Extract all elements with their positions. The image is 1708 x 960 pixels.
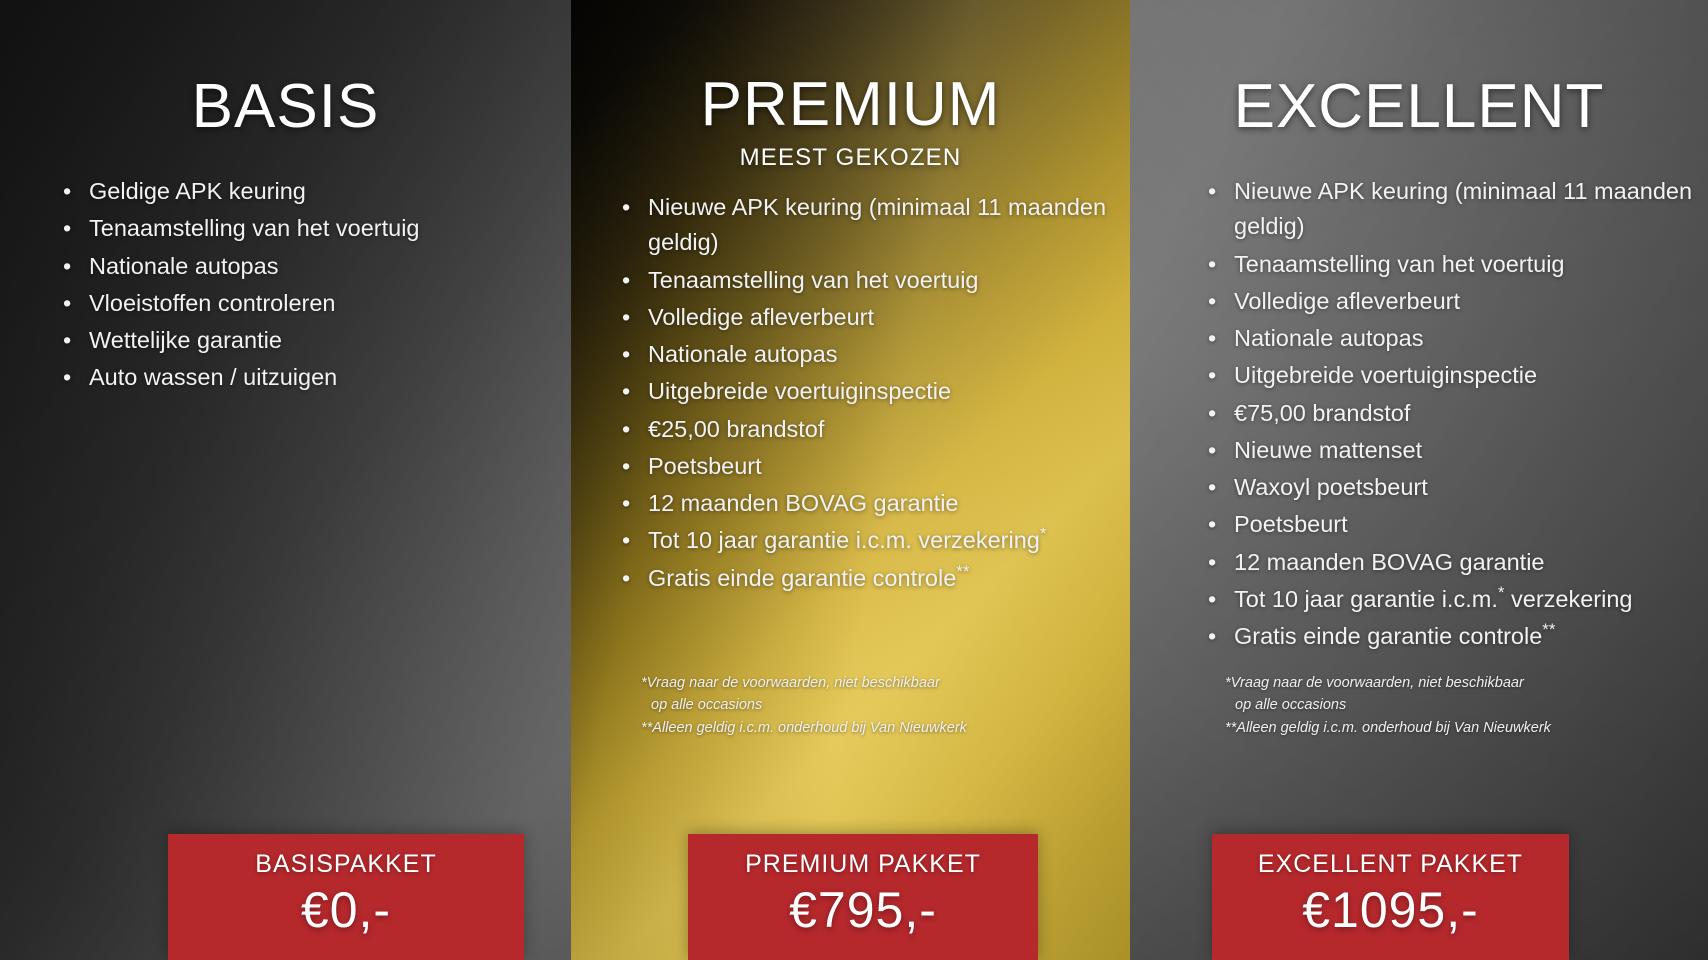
bullet-icon: • bbox=[1208, 247, 1216, 282]
list-item: • €75,00 brandstof bbox=[1205, 396, 1700, 431]
bullet-icon: • bbox=[622, 523, 630, 558]
list-item: • Uitgebreide voertuiginspectie bbox=[619, 374, 1119, 409]
feature-label: Poetsbeurt bbox=[1234, 511, 1348, 537]
feature-label: Tenaamstelling van het voertuig bbox=[1234, 251, 1565, 277]
banner-price: €0,- bbox=[168, 879, 524, 937]
feature-label: Waxoyl poetsbeurt bbox=[1234, 474, 1428, 500]
footnote-line: *Vraag naar de voorwaarden, niet beschik… bbox=[641, 672, 1111, 694]
bullet-icon: • bbox=[1208, 619, 1216, 654]
banner-price: €1095,- bbox=[1212, 879, 1569, 937]
feature-label: €25,00 brandstof bbox=[648, 416, 824, 442]
feature-label: Nieuwe APK keuring (minimaal 11 maanden … bbox=[648, 194, 1106, 255]
feature-label: 12 maanden BOVAG garantie bbox=[1234, 549, 1544, 575]
list-item: • Vloeistoffen controleren bbox=[60, 286, 560, 321]
bullet-icon: • bbox=[1208, 396, 1216, 431]
bullet-icon: • bbox=[1208, 582, 1216, 617]
bullet-icon: • bbox=[1208, 507, 1216, 542]
feature-label: Uitgebreide voertuiginspectie bbox=[648, 378, 951, 404]
list-item: • Nationale autopas bbox=[1205, 321, 1700, 356]
footnotes-premium: *Vraag naar de voorwaarden, niet beschik… bbox=[641, 672, 1111, 739]
feature-label: Tot 10 jaar garantie i.c.m.* verzekering bbox=[1234, 586, 1632, 612]
list-item: • Uitgebreide voertuiginspectie bbox=[1205, 358, 1700, 393]
bullet-icon: • bbox=[63, 174, 71, 209]
bullet-icon: • bbox=[1208, 174, 1216, 209]
bullet-icon: • bbox=[1208, 470, 1216, 505]
list-item: • Tenaamstelling van het voertuig bbox=[1205, 247, 1700, 282]
plan-title-excellent: EXCELLENT bbox=[1130, 76, 1708, 138]
feature-label: Wettelijke garantie bbox=[89, 327, 282, 353]
footnote-line: *Vraag naar de voorwaarden, niet beschik… bbox=[1225, 672, 1695, 694]
bullet-icon: • bbox=[1208, 433, 1216, 468]
list-item: • Nieuwe mattenset bbox=[1205, 433, 1700, 468]
price-banner-basis[interactable]: BASISPAKKET €0,- bbox=[168, 834, 524, 960]
list-item: • Waxoyl poetsbeurt bbox=[1205, 470, 1700, 505]
plan-subtitle-premium: MEEST GEKOZEN bbox=[571, 144, 1130, 172]
bullet-icon: • bbox=[622, 561, 630, 596]
bullet-icon: • bbox=[1208, 321, 1216, 356]
feature-label: Uitgebreide voertuiginspectie bbox=[1234, 362, 1537, 388]
feature-label: Volledige afleverbeurt bbox=[648, 304, 874, 330]
bullet-icon: • bbox=[63, 211, 71, 246]
footnote-line: op alle occasions bbox=[641, 694, 1111, 716]
feature-label: Nationale autopas bbox=[648, 341, 837, 367]
list-item: • Nationale autopas bbox=[60, 249, 560, 284]
feature-list-excellent: • Nieuwe APK keuring (minimaal 11 maande… bbox=[1205, 174, 1700, 656]
feature-label: Auto wassen / uitzuigen bbox=[89, 364, 337, 390]
list-item: • Tenaamstelling van het voertuig bbox=[619, 263, 1119, 298]
banner-label: BASISPAKKET bbox=[168, 834, 524, 879]
price-banner-premium[interactable]: PREMIUM PAKKET €795,- bbox=[688, 834, 1038, 960]
feature-label: Tenaamstelling van het voertuig bbox=[89, 215, 420, 241]
bullet-icon: • bbox=[622, 190, 630, 225]
feature-label: Tenaamstelling van het voertuig bbox=[648, 267, 979, 293]
pricing-comparison-slide: BASIS • Geldige APK keuring • Tenaamstel… bbox=[0, 0, 1708, 960]
footnote-line: **Alleen geldig i.c.m. onderhoud bij Van… bbox=[641, 717, 1111, 739]
feature-label: Geldige APK keuring bbox=[89, 178, 306, 204]
footnote-line: **Alleen geldig i.c.m. onderhoud bij Van… bbox=[1225, 717, 1695, 739]
list-item: • Poetsbeurt bbox=[1205, 507, 1700, 542]
plan-title-basis: BASIS bbox=[0, 76, 571, 138]
feature-label: Gratis einde garantie controle** bbox=[1234, 623, 1556, 649]
list-item: • Gratis einde garantie controle** bbox=[619, 561, 1119, 596]
bullet-icon: • bbox=[622, 449, 630, 484]
list-item: • Volledige afleverbeurt bbox=[619, 300, 1119, 335]
list-item: • Geldige APK keuring bbox=[60, 174, 560, 209]
feature-label: Nationale autopas bbox=[89, 253, 278, 279]
footnote-line: op alle occasions bbox=[1225, 694, 1695, 716]
list-item: • Tot 10 jaar garantie i.c.m. verzekerin… bbox=[619, 523, 1119, 558]
list-item: • Gratis einde garantie controle** bbox=[1205, 619, 1700, 654]
price-banner-excellent[interactable]: EXCELLENT PAKKET €1095,- bbox=[1212, 834, 1569, 960]
bullet-icon: • bbox=[63, 249, 71, 284]
feature-label: Nationale autopas bbox=[1234, 325, 1423, 351]
feature-label: Nieuwe APK keuring (minimaal 11 maanden … bbox=[1234, 178, 1692, 239]
footnotes-excellent: *Vraag naar de voorwaarden, niet beschik… bbox=[1225, 672, 1695, 739]
list-item: • Auto wassen / uitzuigen bbox=[60, 360, 560, 395]
list-item: • Tenaamstelling van het voertuig bbox=[60, 211, 560, 246]
bullet-icon: • bbox=[1208, 545, 1216, 580]
bullet-icon: • bbox=[63, 286, 71, 321]
feature-label: 12 maanden BOVAG garantie bbox=[648, 490, 958, 516]
feature-label: €75,00 brandstof bbox=[1234, 400, 1410, 426]
list-item: • Nationale autopas bbox=[619, 337, 1119, 372]
feature-label: Gratis einde garantie controle** bbox=[648, 565, 970, 591]
list-item: • Tot 10 jaar garantie i.c.m.* verzekeri… bbox=[1205, 582, 1700, 617]
banner-price: €795,- bbox=[688, 879, 1038, 937]
bullet-icon: • bbox=[1208, 284, 1216, 319]
feature-list-premium: • Nieuwe APK keuring (minimaal 11 maande… bbox=[619, 190, 1119, 598]
plan-column-basis: BASIS • Geldige APK keuring • Tenaamstel… bbox=[0, 0, 571, 960]
bullet-icon: • bbox=[63, 323, 71, 358]
list-item: • 12 maanden BOVAG garantie bbox=[619, 486, 1119, 521]
bullet-icon: • bbox=[622, 263, 630, 298]
feature-list-basis: • Geldige APK keuring • Tenaamstelling v… bbox=[60, 174, 560, 398]
bullet-icon: • bbox=[622, 337, 630, 372]
feature-label: Poetsbeurt bbox=[648, 453, 762, 479]
list-item: • 12 maanden BOVAG garantie bbox=[1205, 545, 1700, 580]
feature-label: Tot 10 jaar garantie i.c.m. verzekering* bbox=[648, 527, 1046, 553]
bullet-icon: • bbox=[622, 412, 630, 447]
banner-label: EXCELLENT PAKKET bbox=[1212, 834, 1569, 879]
list-item: • Wettelijke garantie bbox=[60, 323, 560, 358]
bullet-icon: • bbox=[622, 374, 630, 409]
list-item: • Nieuwe APK keuring (minimaal 11 maande… bbox=[619, 190, 1119, 261]
bullet-icon: • bbox=[1208, 358, 1216, 393]
feature-label: Nieuwe mattenset bbox=[1234, 437, 1422, 463]
plan-column-premium: PREMIUM MEEST GEKOZEN • Nieuwe APK keuri… bbox=[571, 0, 1130, 960]
plan-title-premium: PREMIUM bbox=[571, 74, 1130, 136]
bullet-icon: • bbox=[622, 300, 630, 335]
banner-label: PREMIUM PAKKET bbox=[688, 834, 1038, 879]
feature-label: Volledige afleverbeurt bbox=[1234, 288, 1460, 314]
bullet-icon: • bbox=[63, 360, 71, 395]
plan-column-excellent: EXCELLENT • Nieuwe APK keuring (minimaal… bbox=[1130, 0, 1708, 960]
list-item: • €25,00 brandstof bbox=[619, 412, 1119, 447]
list-item: • Nieuwe APK keuring (minimaal 11 maande… bbox=[1205, 174, 1700, 245]
feature-label: Vloeistoffen controleren bbox=[89, 290, 335, 316]
bullet-icon: • bbox=[622, 486, 630, 521]
list-item: • Volledige afleverbeurt bbox=[1205, 284, 1700, 319]
list-item: • Poetsbeurt bbox=[619, 449, 1119, 484]
